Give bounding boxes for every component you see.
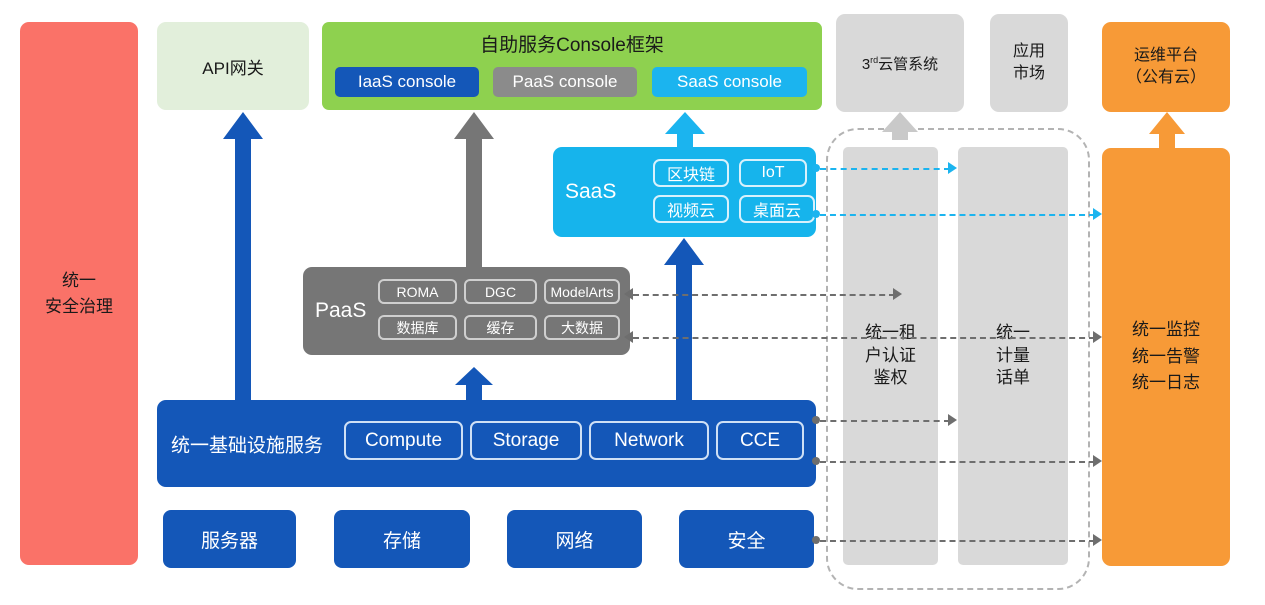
connector-dot-infra-2 <box>812 457 820 465</box>
unified-infrastructure-service-bar[interactable]: 统一基础设施服务 Compute Storage Network CCE <box>157 400 816 487</box>
ops-monitoring-column[interactable]: 统一监控 统一告警 统一日志 <box>1102 148 1230 566</box>
governance-line-1: 统一 <box>45 268 113 294</box>
arrow-infra-to-api-gateway <box>222 112 264 404</box>
arrowhead-paas-to-ops <box>1093 331 1102 343</box>
infrastructure-label: 统一基础设施服务 <box>171 430 323 457</box>
connector-dot-saas-2 <box>812 210 820 218</box>
dashed-infra-to-auth <box>820 420 950 422</box>
governance-line-2: 安全治理 <box>45 294 113 320</box>
paas-service-roma[interactable]: ROMA <box>378 279 457 304</box>
arrow-infra-to-saas <box>663 238 705 404</box>
connector-dot-resources <box>812 536 820 544</box>
dashed-paas-to-ops <box>633 337 1095 339</box>
architecture-diagram: 统一 安全治理 API网关 自助服务Console框架 IaaS console… <box>0 0 1265 605</box>
arrow-saas-to-console <box>664 112 706 150</box>
arrowhead-infra-to-ops <box>1093 455 1102 467</box>
self-service-console-frame[interactable]: 自助服务Console框架 IaaS console PaaS console … <box>322 22 822 110</box>
dashed-resources-to-ops <box>820 540 1095 542</box>
infra-service-cce[interactable]: CCE <box>716 421 804 460</box>
auth-line-3: 鉴权 <box>865 367 916 390</box>
infra-service-storage[interactable]: Storage <box>470 421 582 460</box>
paas-service-cache[interactable]: 缓存 <box>464 315 537 340</box>
connector-dot-infra-1 <box>812 416 820 424</box>
ops-column-line-2: 统一告警 <box>1132 344 1200 370</box>
paas-label: PaaS <box>315 299 366 323</box>
auth-line-1: 统一租 <box>865 322 916 345</box>
arrow-to-ops-platform <box>1148 112 1186 150</box>
api-gateway-label: API网关 <box>202 54 263 79</box>
resource-box-security[interactable]: 安全 <box>679 510 814 568</box>
arrowhead-saas-to-ops <box>1093 208 1102 220</box>
arrowhead-saas-to-billing <box>948 162 957 174</box>
paas-service-modelarts[interactable]: ModelArts <box>544 279 620 304</box>
saas-service-desktop-cloud[interactable]: 桌面云 <box>739 195 815 223</box>
saas-service-iot[interactable]: IoT <box>739 159 807 187</box>
saas-label: SaaS <box>565 180 616 204</box>
resource-box-network[interactable]: 网络 <box>507 510 642 568</box>
dashed-infra-to-ops <box>820 461 1095 463</box>
ops-platform-line-1: 运维平台 <box>1126 45 1206 67</box>
saas-console-chip[interactable]: SaaS console <box>652 67 807 97</box>
paas-service-database[interactable]: 数据库 <box>378 315 457 340</box>
saas-block[interactable]: SaaS 区块链 IoT 视频云 桌面云 <box>553 147 816 237</box>
iaas-console-chip[interactable]: IaaS console <box>335 67 479 97</box>
ops-column-line-3: 统一日志 <box>1132 370 1200 396</box>
unified-tenant-auth-column[interactable]: 统一租 户认证 鉴权 <box>843 147 938 565</box>
paas-block[interactable]: PaaS ROMA DGC ModelArts 数据库 缓存 大数据 <box>303 267 630 355</box>
unified-metering-billing-column[interactable]: 统一 计量 话单 <box>958 147 1068 565</box>
dashed-paas-to-auth <box>633 294 895 296</box>
auth-line-2: 户认证 <box>865 345 916 368</box>
ops-platform-line-2: （公有云） <box>1126 67 1206 89</box>
saas-service-blockchain[interactable]: 区块链 <box>653 159 729 187</box>
resource-box-storage[interactable]: 存储 <box>334 510 470 568</box>
third-party-cloud-management-box[interactable]: 3rd云管系统 <box>836 14 964 112</box>
arrowhead-resources-to-ops <box>1093 534 1102 546</box>
ops-column-line-1: 统一监控 <box>1132 317 1200 343</box>
app-market-box[interactable]: 应用 市场 <box>990 14 1068 112</box>
dashed-saas-to-ops <box>820 214 1095 216</box>
paas-service-dgc[interactable]: DGC <box>464 279 537 304</box>
third-party-cloud-management-label: 3rd云管系统 <box>862 53 938 74</box>
arrowhead-paas-left-2 <box>624 331 633 343</box>
console-frame-title: 自助服务Console框架 <box>322 30 822 57</box>
billing-line-3: 话单 <box>996 367 1030 390</box>
arrowhead-paas-to-auth <box>893 288 902 300</box>
resource-box-server[interactable]: 服务器 <box>163 510 296 568</box>
billing-line-2: 计量 <box>996 345 1030 368</box>
paas-service-bigdata[interactable]: 大数据 <box>544 315 620 340</box>
infra-service-network[interactable]: Network <box>589 421 709 460</box>
infra-service-compute[interactable]: Compute <box>344 421 463 460</box>
connector-dot-saas-1 <box>812 164 820 172</box>
arrow-paas-to-console <box>453 112 495 270</box>
arrow-infra-to-paas <box>454 367 494 403</box>
api-gateway-box[interactable]: API网关 <box>157 22 309 110</box>
arrowhead-infra-to-auth <box>948 414 957 426</box>
paas-console-chip[interactable]: PaaS console <box>493 67 637 97</box>
saas-service-video-cloud[interactable]: 视频云 <box>653 195 729 223</box>
unified-security-governance-panel[interactable]: 统一 安全治理 <box>20 22 138 565</box>
ops-platform-box[interactable]: 运维平台 （公有云） <box>1102 22 1230 112</box>
app-market-line-1: 应用 <box>1013 41 1045 63</box>
dashed-saas-to-billing <box>820 168 950 170</box>
arrow-to-third-party-cloud <box>881 112 919 140</box>
arrowhead-paas-left-1 <box>624 288 633 300</box>
billing-line-1: 统一 <box>996 322 1030 345</box>
app-market-line-2: 市场 <box>1013 63 1045 85</box>
